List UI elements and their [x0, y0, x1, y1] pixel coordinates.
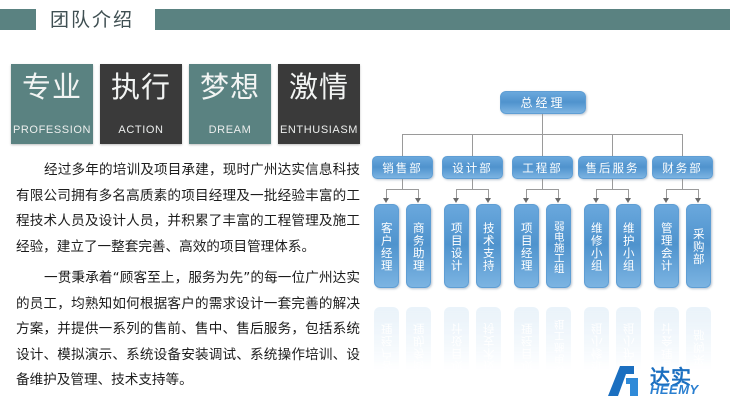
arrow-icon: [415, 198, 421, 203]
arrow-icon: [485, 198, 491, 203]
slide-canvas: 团队介绍 专业 PROFESSION 执行 ACTION 梦想 DREAM 激情…: [0, 0, 730, 410]
arrow-icon: [383, 198, 389, 203]
keyword-cn-label: 执行: [100, 72, 182, 104]
keyword-card-action: 执行 ACTION: [100, 64, 182, 144]
connector-sub-bus: [456, 189, 489, 190]
logo-mark-icon: [604, 362, 648, 400]
connector-sub-stem: [612, 179, 613, 189]
header-accent-square: [0, 9, 36, 30]
keyword-card-dream: 梦想 DREAM: [189, 64, 271, 144]
keyword-box-group: 专业 PROFESSION 执行 ACTION 梦想 DREAM 激情 ENTH…: [11, 64, 361, 144]
org-node-dept-engineering[interactable]: 工程部: [512, 156, 573, 179]
reflection-box: 商务助理: [406, 307, 431, 387]
connector-sub-stem: [682, 179, 683, 189]
connector-dept-stem: [402, 134, 403, 156]
connector-sub-bus: [596, 189, 629, 190]
reflection-box: 弱电施工组: [546, 307, 571, 387]
reflection-box: 技术支持: [476, 307, 501, 387]
connector-root-stem: [542, 114, 543, 134]
org-node-dept-finance[interactable]: 财务部: [652, 156, 713, 179]
connector-sub-bus: [666, 189, 699, 190]
company-logo: 达实 HEEMY: [604, 362, 722, 402]
arrow-icon: [523, 198, 529, 203]
org-node-dept-design[interactable]: 设计部: [442, 156, 503, 179]
body-paragraph-1: 经过多年的培训及项目承建，现时广州达实信息科技有限公司拥有多名高质素的项目经理及…: [16, 158, 360, 260]
org-node-dept-aftersales[interactable]: 售后服务部: [578, 156, 647, 179]
org-node-sub-purchasing[interactable]: 采购部: [686, 204, 711, 288]
org-node-sub-tech-support[interactable]: 技术支持: [476, 204, 501, 288]
header-bar: [155, 9, 730, 30]
keyword-en-label: ACTION: [100, 124, 182, 136]
body-paragraph-2: 一贯秉承着“顾客至上，服务为先”的每一位广州达实的员工，均熟知如何根据客户的需求…: [16, 266, 360, 394]
arrow-icon: [625, 198, 631, 203]
reflection-box: 客户经理: [374, 307, 399, 387]
connector-dept-stem: [472, 134, 473, 156]
connector-sub-bus: [386, 189, 419, 190]
org-node-sub-maintenance-team[interactable]: 维护小组: [616, 204, 641, 288]
arrow-icon: [555, 198, 561, 203]
arrow-icon: [695, 198, 701, 203]
keyword-en-label: DREAM: [189, 124, 271, 136]
org-node-sub-project-design[interactable]: 项目设计: [444, 204, 469, 288]
keyword-cn-label: 梦想: [189, 72, 271, 104]
org-node-root[interactable]: 总经理: [500, 91, 586, 114]
connector-dept-stem: [612, 134, 613, 156]
reflection-box: 项目经理: [514, 307, 539, 387]
arrow-icon: [663, 198, 669, 203]
connector-dept-stem: [542, 134, 543, 156]
keyword-cn-label: 激情: [278, 72, 360, 104]
org-node-sub-account-manager[interactable]: 客户经理: [374, 204, 399, 288]
keyword-card-profession: 专业 PROFESSION: [11, 64, 93, 144]
connector-sub-stem: [402, 179, 403, 189]
keyword-en-label: ENTHUSIASM: [278, 124, 360, 136]
arrow-icon: [453, 198, 459, 203]
connector-sub-stem: [472, 179, 473, 189]
connector-sub-bus: [526, 189, 559, 190]
org-node-dept-sales[interactable]: 销售部: [372, 156, 433, 179]
org-node-sub-project-manager[interactable]: 项目经理: [514, 204, 539, 288]
keyword-cn-label: 专业: [11, 72, 93, 104]
arrow-icon: [593, 198, 599, 203]
reflection-box: 项目设计: [444, 307, 469, 387]
org-node-sub-management-accounting[interactable]: 管理会计: [654, 204, 679, 288]
slide-header: 团队介绍: [0, 9, 730, 30]
org-node-sub-repair-team[interactable]: 维修小组: [584, 204, 609, 288]
org-chart: 总经理 销售部 设计部 工程部 售后服务部 财务部 客户经理 商务助理 项目: [368, 82, 730, 307]
logo-en-text: HEEMY: [650, 382, 699, 397]
org-node-sub-business-assistant[interactable]: 商务助理: [406, 204, 431, 288]
connector-dept-stem: [682, 134, 683, 156]
page-title: 团队介绍: [50, 5, 134, 32]
connector-sub-stem: [542, 179, 543, 189]
keyword-en-label: PROFESSION: [11, 124, 93, 136]
keyword-card-enthusiasm: 激情 ENTHUSIASM: [278, 64, 360, 144]
org-node-sub-low-voltage-crew[interactable]: 弱电施工组: [546, 204, 571, 288]
